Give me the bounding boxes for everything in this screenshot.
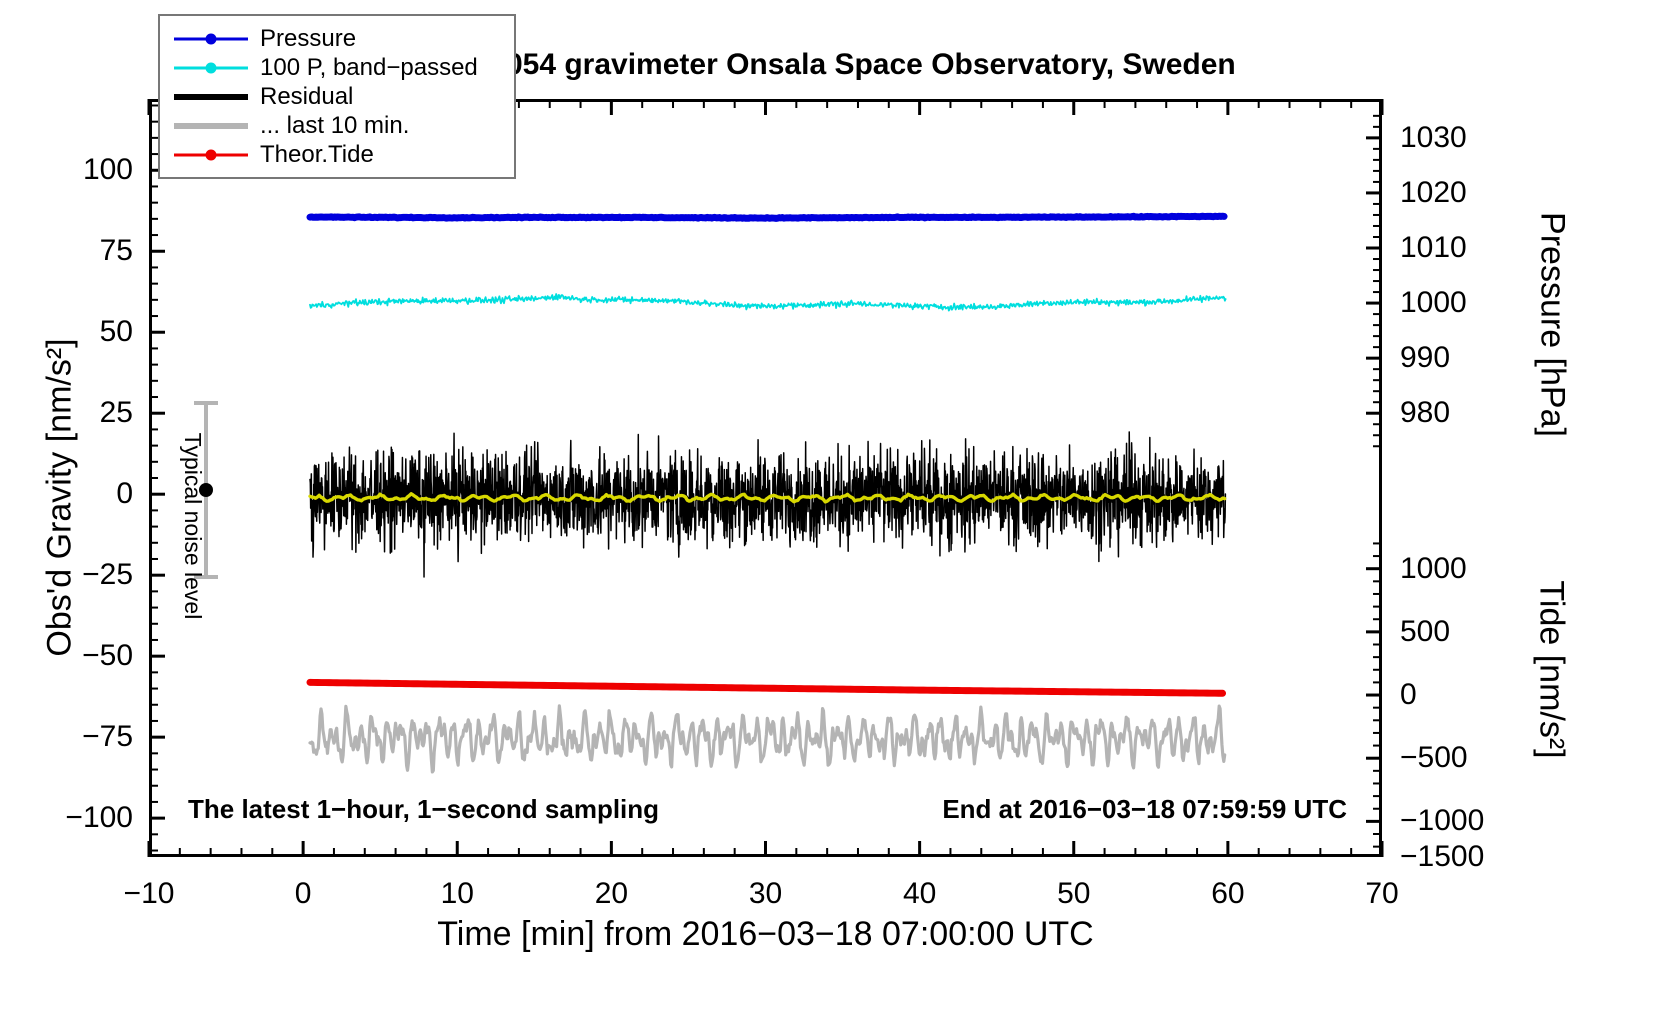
y-right-tide-tick-1: 500 [1400, 617, 1450, 647]
x-tick-8: 70 [1365, 879, 1398, 909]
data-series-group [310, 216, 1226, 772]
legend-item-1[interactable]: 100 P, band−passed [168, 53, 504, 82]
x-tick-4: 30 [749, 879, 782, 909]
y-right-tide-tick-0: 1000 [1400, 554, 1467, 584]
legend-item-label: Residual [254, 83, 353, 111]
y-right-pressure-tick-4: 990 [1400, 343, 1450, 373]
legend-item-label: Pressure [254, 25, 356, 53]
y-right-pressure-tick-0: 1030 [1400, 123, 1467, 153]
x-tick-3: 20 [595, 879, 628, 909]
y-left-tick-8: −100 [0, 803, 133, 833]
legend-swatch-icon [168, 29, 254, 49]
y-axis-left-title: Obs'd Gravity [nm/s²] [41, 288, 80, 708]
gravimeter-chart-figure: SCG_054 gravimeter Onsala Space Observat… [0, 0, 1660, 1020]
x-tick-6: 50 [1057, 879, 1090, 909]
x-tick-0: −10 [124, 879, 175, 909]
x-tick-1: 0 [295, 879, 312, 909]
legend-item-0[interactable]: Pressure [168, 24, 504, 53]
legend-swatch-icon [168, 116, 254, 136]
legend-swatch-icon [168, 87, 254, 107]
series-canvas [152, 102, 1379, 854]
y-right-tide-tick-5: −1500 [1400, 842, 1484, 872]
y-axis-right-tide-title: Tide [nm/s²] [1532, 505, 1571, 835]
y-left-tick-7: −75 [0, 722, 133, 752]
x-tick-5: 40 [903, 879, 936, 909]
legend-item-4[interactable]: Theor.Tide [168, 140, 504, 169]
y-right-pressure-tick-1: 1020 [1400, 178, 1467, 208]
y-right-pressure-tick-3: 1000 [1400, 288, 1467, 318]
legend-item-label: 100 P, band−passed [254, 54, 478, 82]
plot-area[interactable]: Typical noise level The latest 1−hour, 1… [149, 99, 1382, 857]
legend-item-label: Theor.Tide [254, 141, 374, 169]
legend-item-3[interactable]: ... last 10 min. [168, 111, 504, 140]
y-left-tick-0: 100 [0, 155, 133, 185]
noise-level-label: Typical noise level [179, 431, 206, 621]
legend-swatch-icon [168, 58, 254, 78]
footer-note-left: The latest 1−hour, 1−second sampling [188, 794, 659, 825]
legend[interactable]: Pressure100 P, band−passedResidual... la… [158, 14, 516, 179]
y-right-pressure-tick-2: 1010 [1400, 233, 1467, 263]
y-right-tide-tick-3: −500 [1400, 743, 1468, 773]
x-axis-title: Time [min] from 2016−03−18 07:00:00 UTC [149, 915, 1382, 954]
y-left-tick-1: 75 [0, 236, 133, 266]
legend-swatch-icon [168, 145, 254, 165]
y-right-pressure-tick-5: 980 [1400, 398, 1450, 428]
x-tick-7: 60 [1211, 879, 1244, 909]
legend-item-label: ... last 10 min. [254, 112, 409, 140]
typical-noise-level-annotation: Typical noise level [188, 395, 298, 585]
x-tick-2: 10 [441, 879, 474, 909]
y-right-tide-tick-2: 0 [1400, 680, 1417, 710]
y-axis-right-pressure-title: Pressure [hPa] [1533, 135, 1572, 515]
legend-item-2[interactable]: Residual [168, 82, 504, 111]
footer-note-right: End at 2016−03−18 07:59:59 UTC [942, 794, 1347, 825]
y-right-tide-tick-4: −1000 [1400, 806, 1484, 836]
